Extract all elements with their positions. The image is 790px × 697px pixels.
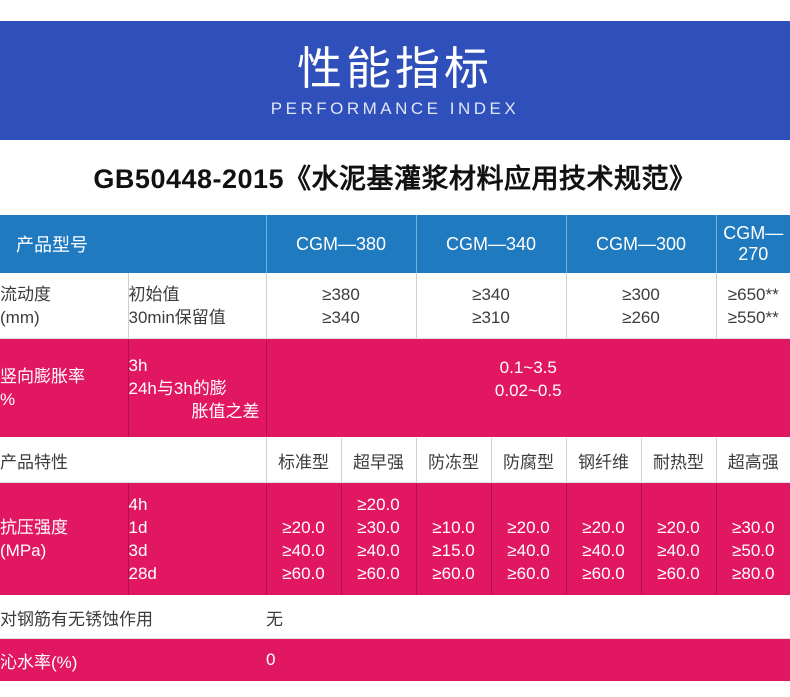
- fluidity-retained-cgm340: ≥310: [417, 306, 566, 329]
- strength-standard-1d: ≥20.0: [267, 516, 341, 539]
- strength-label-line2: (MPa): [0, 539, 128, 562]
- strength-heat-resistant-28d: ≥60.0: [642, 562, 716, 585]
- strength-standard-3d: ≥40.0: [267, 539, 341, 562]
- expansion-value-diff: 0.02~0.5: [267, 379, 790, 402]
- feature-type-ultra-high-strength: 超高强: [716, 438, 790, 483]
- strength-antifreeze-28d: ≥60.0: [417, 562, 491, 585]
- performance-spec-table: 产品型号 CGM—380 CGM—340 CGM—300 CGM—270 流动度…: [0, 215, 790, 682]
- expansion-value-3h: 0.1~3.5: [267, 356, 790, 379]
- fluidity-sublabels: 初始值 30min保留值: [128, 273, 266, 339]
- strength-ultra-high-28d: ≥80.0: [717, 562, 790, 585]
- expansion-sublabel-diff-line2: 胀值之差: [129, 400, 266, 423]
- header-model-cgm270: CGM—270: [716, 215, 790, 273]
- feature-type-ultra-early-strength: 超早强: [341, 438, 416, 483]
- header-product-model-label: 产品型号: [0, 215, 266, 273]
- fluidity-sublabel-retained: 30min保留值: [129, 306, 266, 329]
- banner-subtitle: PERFORMANCE INDEX: [271, 98, 519, 120]
- table-row-compressive-strength: 抗压强度 (MPa) 4h 1d 3d 28d ≥20.0 ≥40.0 ≥60.…: [0, 483, 790, 596]
- fluidity-sublabel-initial: 初始值: [129, 283, 266, 306]
- strength-heat-resistant-3d: ≥40.0: [642, 539, 716, 562]
- feature-type-antifreeze: 防冻型: [416, 438, 491, 483]
- strength-heat-resistant-1d: ≥20.0: [642, 516, 716, 539]
- expansion-label-line1: 竖向膨胀率: [0, 365, 128, 388]
- strength-ultra-high-1d: ≥30.0: [717, 516, 790, 539]
- table-row-expansion: 竖向膨胀率 % 3h 24h与3h的膨 胀值之差 0.1~3.5 0.02~0.…: [0, 339, 790, 438]
- feature-type-anticorrosion: 防腐型: [491, 438, 566, 483]
- fluidity-label: 流动度 (mm): [0, 273, 128, 339]
- strength-ultra-early-28d: ≥60.0: [342, 562, 416, 585]
- strength-anticorrosion-1d: ≥20.0: [492, 516, 566, 539]
- strength-antifreeze-1d: ≥10.0: [417, 516, 491, 539]
- fluidity-retained-cgm300: ≥260: [567, 306, 716, 329]
- standard-title: GB50448-2015《水泥基灌浆材料应用技术规范》: [0, 145, 790, 207]
- fluidity-retained-cgm380: ≥340: [267, 306, 416, 329]
- strength-values-anticorrosion: ≥20.0 ≥40.0 ≥60.0: [491, 483, 566, 596]
- fluidity-initial-cgm300: ≥300: [567, 283, 716, 306]
- expansion-sublabel-diff-line1: 24h与3h的膨: [129, 377, 266, 400]
- header-model-cgm300: CGM—300: [566, 215, 716, 273]
- strength-ultra-high-3d: ≥50.0: [717, 539, 790, 562]
- strength-values-ultra-early: ≥20.0 ≥30.0 ≥40.0 ≥60.0: [341, 483, 416, 596]
- fluidity-label-line1: 流动度: [0, 283, 128, 306]
- strength-age-3d: 3d: [129, 539, 266, 562]
- fluidity-values-cgm300: ≥300 ≥260: [566, 273, 716, 339]
- feature-type-standard: 标准型: [266, 438, 341, 483]
- table-row-features: 产品特性 标准型 超早强 防冻型 防腐型 钢纤维 耐热型 超高强: [0, 438, 790, 483]
- strength-steel-fiber-3d: ≥40.0: [567, 539, 641, 562]
- fluidity-initial-cgm270: ≥650**: [717, 283, 790, 306]
- expansion-label-line2: %: [0, 388, 128, 411]
- strength-values-standard: ≥20.0 ≥40.0 ≥60.0: [266, 483, 341, 596]
- table-row-fluidity: 流动度 (mm) 初始值 30min保留值 ≥380 ≥340 ≥340: [0, 273, 790, 339]
- bleeding-value: 0: [266, 639, 790, 682]
- table-header-row: 产品型号 CGM—380 CGM—340 CGM—300 CGM—270: [0, 215, 790, 273]
- features-label: 产品特性: [0, 438, 266, 483]
- fluidity-label-line2: (mm): [0, 306, 128, 329]
- strength-ultra-early-4h: ≥20.0: [342, 493, 416, 516]
- strength-anticorrosion-3d: ≥40.0: [492, 539, 566, 562]
- expansion-sublabel-3h: 3h: [129, 354, 266, 377]
- performance-index-page: 性能指标 PERFORMANCE INDEX GB50448-2015《水泥基灌…: [0, 0, 790, 697]
- fluidity-initial-cgm340: ≥340: [417, 283, 566, 306]
- strength-values-antifreeze: ≥10.0 ≥15.0 ≥60.0: [416, 483, 491, 596]
- expansion-sublabels: 3h 24h与3h的膨 胀值之差: [128, 339, 266, 438]
- strength-steel-fiber-1d: ≥20.0: [567, 516, 641, 539]
- feature-type-heat-resistant: 耐热型: [641, 438, 716, 483]
- strength-age-4h: 4h: [129, 493, 266, 516]
- feature-type-steel-fiber: 钢纤维: [566, 438, 641, 483]
- strength-ultra-early-1d: ≥30.0: [342, 516, 416, 539]
- corrosion-label: 对钢筋有无锈蚀作用: [0, 596, 266, 639]
- bleeding-label: 沁水率(%): [0, 639, 266, 682]
- table-row-corrosion: 对钢筋有无锈蚀作用 无: [0, 596, 790, 639]
- fluidity-values-cgm340: ≥340 ≥310: [416, 273, 566, 339]
- strength-anticorrosion-28d: ≥60.0: [492, 562, 566, 585]
- strength-values-ultra-high: ≥30.0 ≥50.0 ≥80.0: [716, 483, 790, 596]
- table-row-bleeding-rate: 沁水率(%) 0: [0, 639, 790, 682]
- strength-label: 抗压强度 (MPa): [0, 483, 128, 596]
- banner-title: 性能指标: [297, 42, 493, 96]
- header-model-cgm380: CGM—380: [266, 215, 416, 273]
- corrosion-value: 无: [266, 596, 790, 639]
- strength-values-steel-fiber: ≥20.0 ≥40.0 ≥60.0: [566, 483, 641, 596]
- strength-antifreeze-3d: ≥15.0: [417, 539, 491, 562]
- strength-age-28d: 28d: [129, 562, 266, 585]
- fluidity-values-cgm380: ≥380 ≥340: [266, 273, 416, 339]
- expansion-label: 竖向膨胀率 %: [0, 339, 128, 438]
- strength-standard-28d: ≥60.0: [267, 562, 341, 585]
- strength-ultra-early-3d: ≥40.0: [342, 539, 416, 562]
- strength-values-heat-resistant: ≥20.0 ≥40.0 ≥60.0: [641, 483, 716, 596]
- performance-banner: 性能指标 PERFORMANCE INDEX: [0, 21, 790, 140]
- header-model-cgm340: CGM—340: [416, 215, 566, 273]
- strength-label-line1: 抗压强度: [0, 516, 128, 539]
- expansion-values: 0.1~3.5 0.02~0.5: [266, 339, 790, 438]
- strength-age-1d: 1d: [129, 516, 266, 539]
- strength-age-labels: 4h 1d 3d 28d: [128, 483, 266, 596]
- strength-steel-fiber-28d: ≥60.0: [567, 562, 641, 585]
- fluidity-retained-cgm270: ≥550**: [717, 306, 790, 329]
- fluidity-values-cgm270: ≥650** ≥550**: [716, 273, 790, 339]
- fluidity-initial-cgm380: ≥380: [267, 283, 416, 306]
